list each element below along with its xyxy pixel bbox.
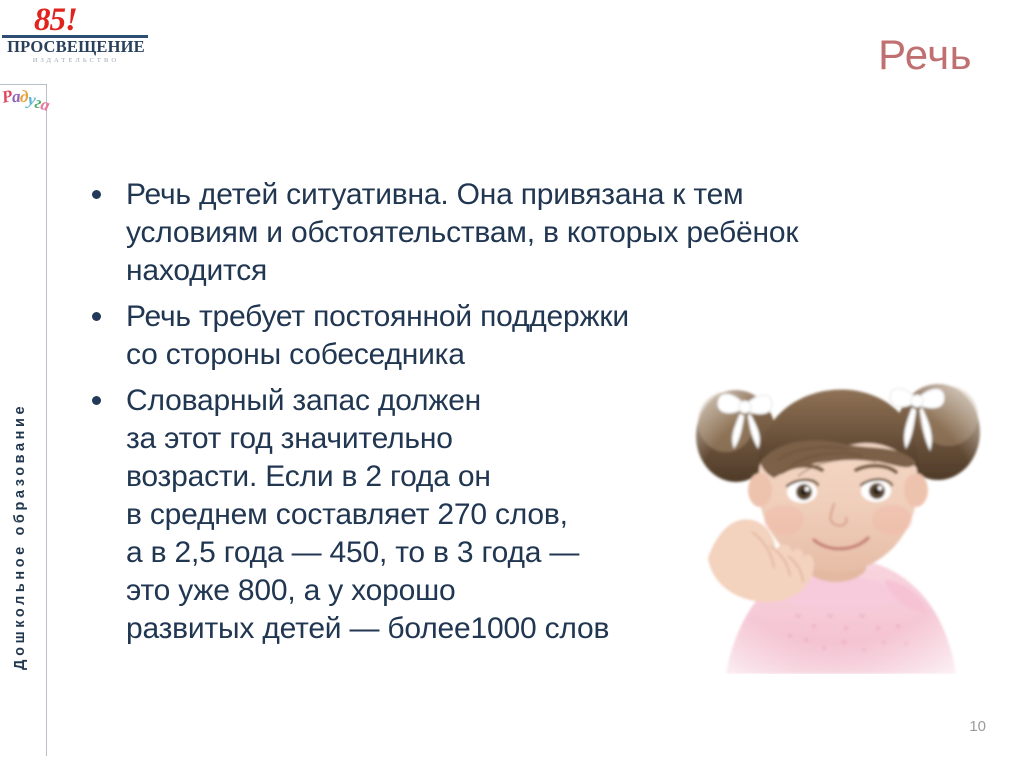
list-item: Словарный запас должен за этот год значи…: [88, 382, 968, 648]
bullet-dot-icon: [92, 312, 101, 321]
anniversary-mark: 85!: [34, 4, 77, 37]
slide: 85! ПРОСВЕЩЕНИЕ ИЗДАТЕЛЬСТВО Радуга Дошк…: [0, 0, 1024, 767]
bullet-text: Речь детей ситуативна. Она привязана к т…: [126, 176, 968, 290]
publisher-subtitle: ИЗДАТЕЛЬСТВО: [1, 56, 151, 65]
publisher-name: ПРОСВЕЩЕНИЕ: [1, 37, 151, 56]
bullet-list: Речь детей ситуативна. Она привязана к т…: [88, 176, 968, 656]
sidebar-vertical-label: Дошкольное образование: [12, 250, 38, 670]
sidebar-top-rule: [0, 84, 47, 85]
page-title: Речь: [878, 32, 972, 78]
bullet-dot-icon: [92, 396, 101, 405]
list-item: Речь детей ситуативна. Она привязана к т…: [88, 176, 968, 290]
sidebar-vertical-rule: [46, 84, 47, 756]
raduga-logo: Радуга: [2, 87, 46, 121]
page-number: 10: [969, 718, 986, 735]
bullet-text: Речь требует постоянной поддержки со сто…: [126, 298, 968, 374]
publisher-logo: 85! ПРОСВЕЩЕНИЕ ИЗДАТЕЛЬСТВО: [0, 4, 152, 66]
bullet-text: Словарный запас должен за этот год значи…: [126, 382, 968, 648]
list-item: Речь требует постоянной поддержки со сто…: [88, 298, 968, 374]
bullet-dot-icon: [92, 190, 101, 199]
